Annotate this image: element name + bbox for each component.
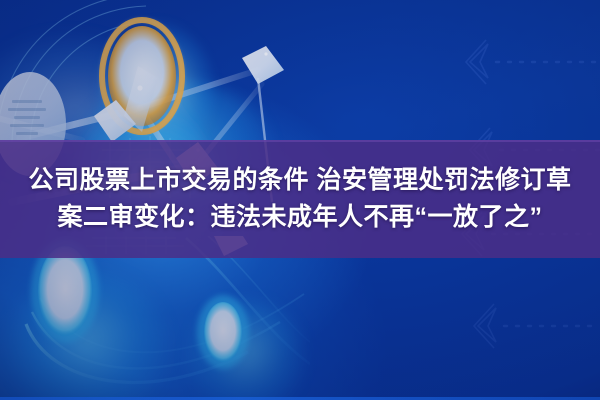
news-banner: 公司股票上市交易的条件 治安管理处罚法修订草 案二审变化：违法未成年人不再“一放… xyxy=(0,0,600,400)
headline-line-2: 案二审变化：违法未成年人不再“一放了之” xyxy=(57,200,542,236)
headline-line-1: 公司股票上市交易的条件 治安管理处罚法修订草 xyxy=(29,163,572,199)
headline: 公司股票上市交易的条件 治安管理处罚法修订草 案二审变化：违法未成年人不再“一放… xyxy=(0,140,600,258)
